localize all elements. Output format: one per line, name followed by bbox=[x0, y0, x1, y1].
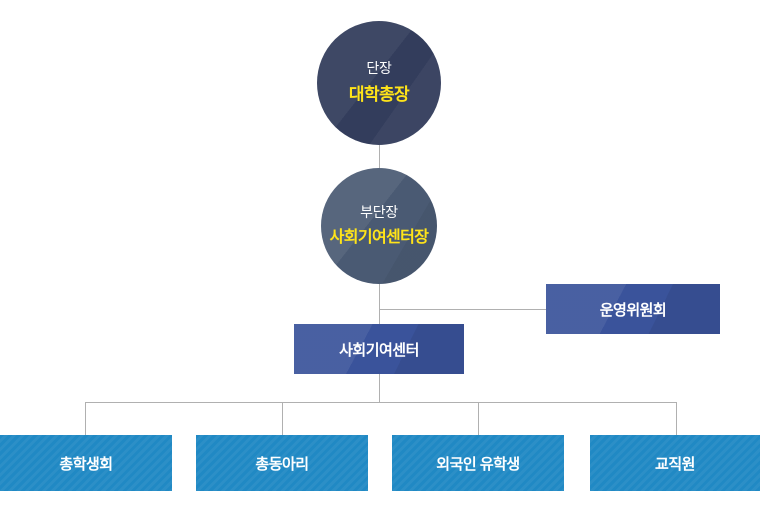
circle-facet-shading bbox=[317, 21, 441, 145]
node-unit-student-council[interactable]: 총학생회 bbox=[0, 435, 172, 491]
node-steering-committee-label: 운영위원회 bbox=[600, 299, 667, 320]
node-unit-international-students-label: 외국인 유학생 bbox=[436, 453, 519, 474]
node-unit-faculty-staff[interactable]: 교직원 bbox=[590, 435, 760, 491]
connector-drop-unit-3 bbox=[478, 402, 479, 435]
node-unit-faculty-staff-label: 교직원 bbox=[655, 453, 695, 474]
node-director-circle[interactable]: 단장 대학총장 bbox=[317, 21, 441, 145]
connector-center-to-committee bbox=[379, 309, 546, 310]
connector-drop-unit-1 bbox=[85, 402, 86, 435]
node-social-contribution-center-label: 사회기여센터 bbox=[339, 339, 419, 360]
node-director-role: 단장 bbox=[366, 61, 391, 76]
node-unit-clubs-label: 총동아리 bbox=[255, 453, 308, 474]
node-unit-student-council-label: 총학생회 bbox=[59, 453, 112, 474]
node-director-name: 대학총장 bbox=[349, 86, 409, 105]
connector-drop-unit-2 bbox=[282, 402, 283, 435]
connector-center-to-bus bbox=[379, 374, 380, 403]
node-deputy-director-role: 부단장 bbox=[360, 205, 398, 220]
node-unit-international-students[interactable]: 외국인 유학생 bbox=[392, 435, 564, 491]
node-social-contribution-center[interactable]: 사회기여센터 bbox=[294, 324, 464, 374]
node-steering-committee[interactable]: 운영위원회 bbox=[546, 284, 720, 334]
connector-drop-unit-4 bbox=[676, 402, 677, 435]
connector-bus-horizontal bbox=[85, 402, 677, 403]
connector-deputy-to-center bbox=[379, 284, 380, 324]
connector-top-to-deputy bbox=[379, 145, 380, 168]
node-unit-clubs[interactable]: 총동아리 bbox=[196, 435, 368, 491]
node-deputy-director-circle[interactable]: 부단장 사회기여센터장 bbox=[321, 168, 437, 284]
circle-facet-shading bbox=[321, 168, 437, 284]
organization-chart: 단장 대학총장 부단장 사회기여센터장 운영위원회 사회기여센터 총학생회 총동… bbox=[0, 0, 760, 505]
node-deputy-director-name: 사회기여센터장 bbox=[330, 229, 429, 247]
